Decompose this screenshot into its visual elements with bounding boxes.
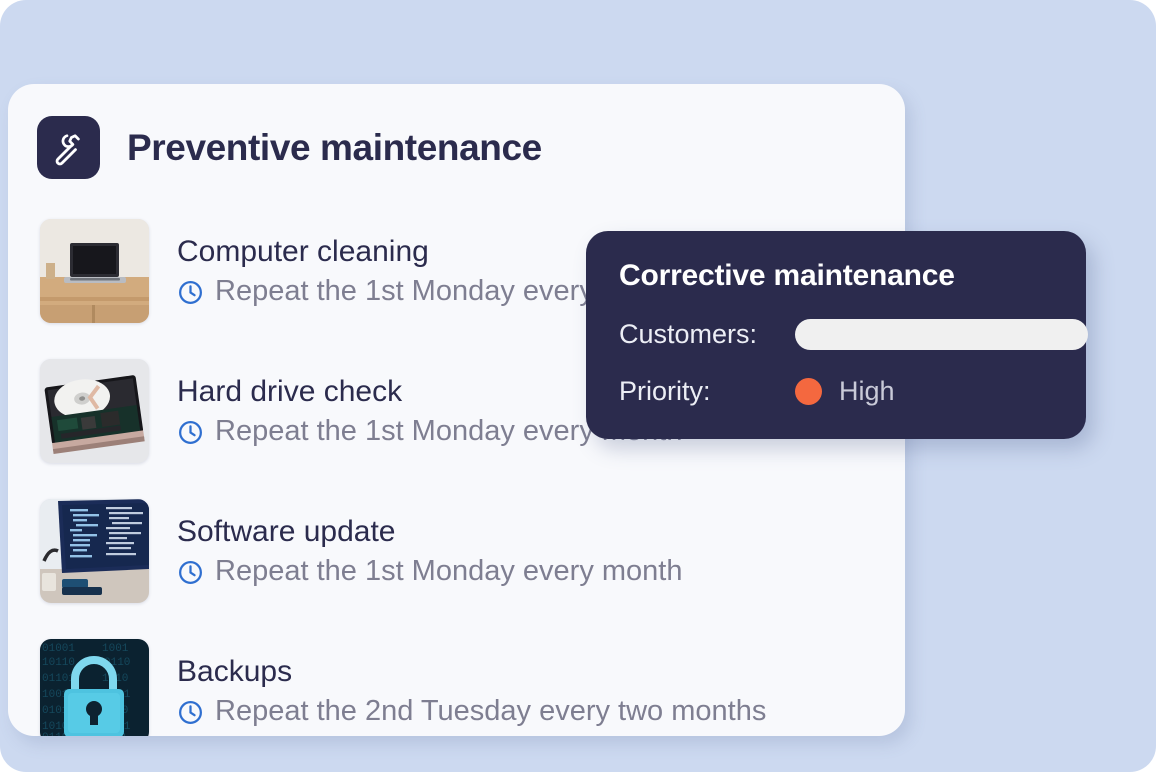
list-item-schedule: Repeat the 2nd Tuesday every two months	[177, 696, 766, 728]
clock-icon	[177, 559, 204, 586]
laptop-on-desk-photo	[40, 219, 149, 323]
customers-label: Customers:	[619, 321, 795, 348]
hard-drive-photo	[40, 359, 149, 463]
list-item[interactable]: 010011001 101100110 011011010 100100101 …	[40, 621, 905, 736]
priority-value: High	[839, 378, 895, 405]
priority-row: Priority: High	[619, 378, 1053, 405]
code-monitor-photo	[40, 499, 149, 603]
list-item-text: Software update Repeat the 1st Monday ev…	[177, 514, 682, 588]
list-item-schedule-text: Repeat the 2nd Tuesday every two months	[215, 696, 766, 728]
padlock-binary-photo: 010011001 101100110 011011010 100100101 …	[40, 639, 149, 736]
list-item-schedule: Repeat the 1st Monday every month	[177, 556, 682, 588]
clock-icon	[177, 419, 204, 446]
list-item[interactable]: Software update Repeat the 1st Monday ev…	[40, 481, 905, 621]
svg-text:01101: 01101	[42, 673, 75, 685]
screenshot-canvas: Preventive maintenance	[0, 0, 1156, 772]
customers-row: Customers:	[619, 319, 1053, 350]
page-title: Preventive maintenance	[127, 129, 542, 166]
priority-label: Priority:	[619, 378, 795, 405]
svg-text:10110: 10110	[42, 657, 75, 669]
svg-text:1001: 1001	[102, 643, 129, 655]
tooltip-title: Corrective maintenance	[619, 261, 1053, 291]
customers-input[interactable]	[795, 319, 1088, 350]
card-header: Preventive maintenance	[8, 84, 905, 179]
list-item-schedule-text: Repeat the 1st Monday every month	[215, 556, 682, 588]
list-item-text: Backups Repeat the 2nd Tuesday every two…	[177, 654, 766, 728]
list-item-title: Software update	[177, 514, 682, 549]
clock-icon	[177, 699, 204, 726]
corrective-maintenance-tooltip: Corrective maintenance Customers: Priori…	[586, 231, 1086, 439]
priority-status-dot-icon	[795, 378, 822, 405]
clock-icon	[177, 279, 204, 306]
wrench-icon	[37, 116, 100, 179]
svg-text:01001: 01001	[42, 643, 75, 655]
list-item-title: Backups	[177, 654, 766, 689]
